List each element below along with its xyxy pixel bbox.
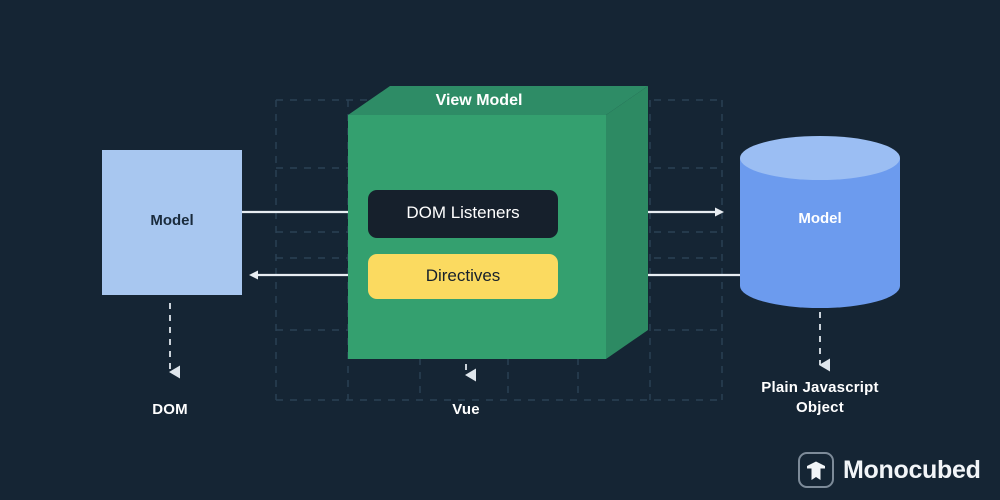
monocubed-logo[interactable]: Monocubed <box>798 452 981 488</box>
monocubed-logo-mark-icon <box>798 452 834 488</box>
diagram-graphics <box>0 0 1000 500</box>
model-right-cylinder[interactable] <box>740 136 900 308</box>
dom-listeners-chip[interactable] <box>368 190 558 238</box>
diagram-canvas: Model View Model DOM Listeners Directive… <box>0 0 1000 500</box>
monocubed-wordmark: Monocubed <box>843 456 981 485</box>
model-left-box[interactable] <box>102 150 242 295</box>
directives-chip[interactable] <box>368 254 558 299</box>
